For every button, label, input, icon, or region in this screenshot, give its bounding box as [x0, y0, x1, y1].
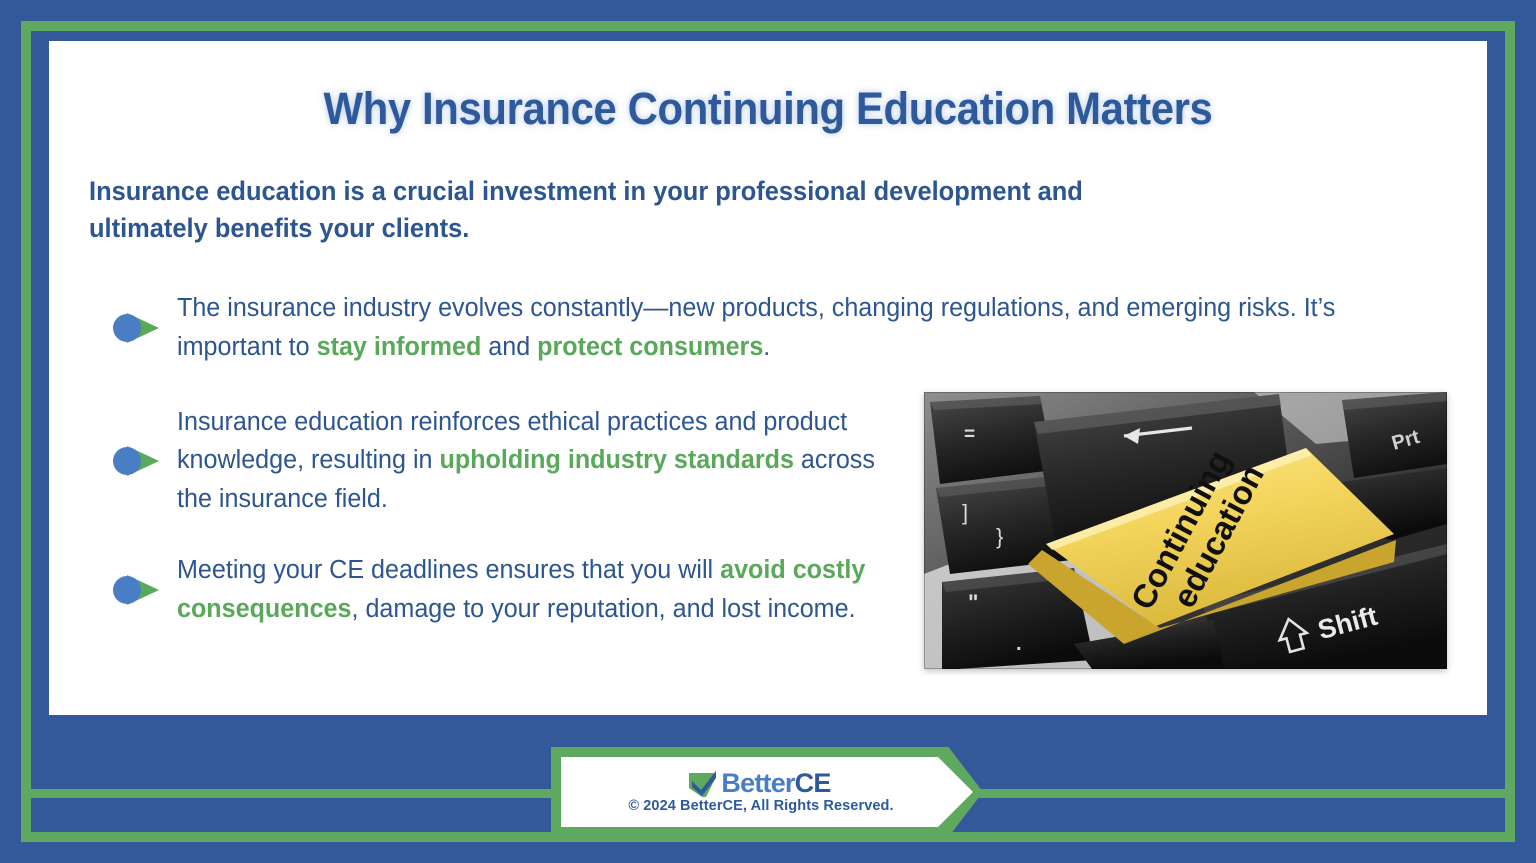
circle-arrow-bullet-icon	[111, 569, 163, 611]
page-title: Why Insurance Continuing Education Matte…	[99, 83, 1436, 135]
svg-text:=: =	[964, 424, 975, 445]
footer-rule-right	[975, 789, 1505, 798]
list-item-text: The insurance industry evolves constantl…	[177, 289, 1422, 367]
brand-logo[interactable]: BetterCE	[689, 770, 830, 797]
emphasis-text: protect consumers	[537, 333, 763, 361]
svg-text:]: ]	[962, 500, 968, 525]
keyboard-continuing-education-photo: = ] } " .	[924, 392, 1447, 669]
body-text: Meeting your CE deadlines ensures that y…	[177, 556, 720, 584]
body-text: , damage to your reputation, and lost in…	[351, 595, 855, 623]
footer-banner: BetterCE © 2024 BetterCE, All Rights Res…	[551, 747, 983, 837]
list-item-text: Insurance education reinforces ethical p…	[177, 403, 882, 519]
list-item: The insurance industry evolves constantl…	[111, 289, 1441, 367]
brand-word-better: Better	[721, 768, 794, 798]
intro-line-1: Insurance education is a crucial investm…	[89, 176, 1083, 206]
circle-arrow-bullet-icon	[111, 307, 163, 349]
svg-text:}: }	[996, 524, 1003, 549]
brand-wordmark: BetterCE	[721, 770, 830, 797]
checkmark-logo-icon	[689, 770, 720, 797]
emphasis-text: upholding industry standards	[440, 446, 794, 474]
content-panel: Why Insurance Continuing Education Matte…	[49, 41, 1487, 715]
intro-statement: Insurance education is a crucial investm…	[89, 173, 1289, 246]
intro-line-2: ultimately benefits your clients.	[89, 213, 469, 243]
circle-arrow-bullet-icon	[111, 440, 163, 482]
svg-text:.: .	[1016, 633, 1022, 655]
footer-rule-left	[31, 789, 556, 798]
body-text: and	[481, 333, 537, 361]
copyright-text: © 2024 BetterCE, All Rights Reserved.	[628, 798, 893, 814]
emphasis-text: stay informed	[317, 333, 482, 361]
brand-word-ce: CE	[795, 768, 831, 798]
footer-banner-inner: BetterCE © 2024 BetterCE, All Rights Res…	[561, 757, 973, 827]
infographic-canvas: Why Insurance Continuing Education Matte…	[0, 0, 1536, 863]
list-item-text: Meeting your CE deadlines ensures that y…	[177, 551, 882, 629]
svg-text:": "	[968, 590, 978, 615]
body-text: .	[763, 333, 770, 361]
